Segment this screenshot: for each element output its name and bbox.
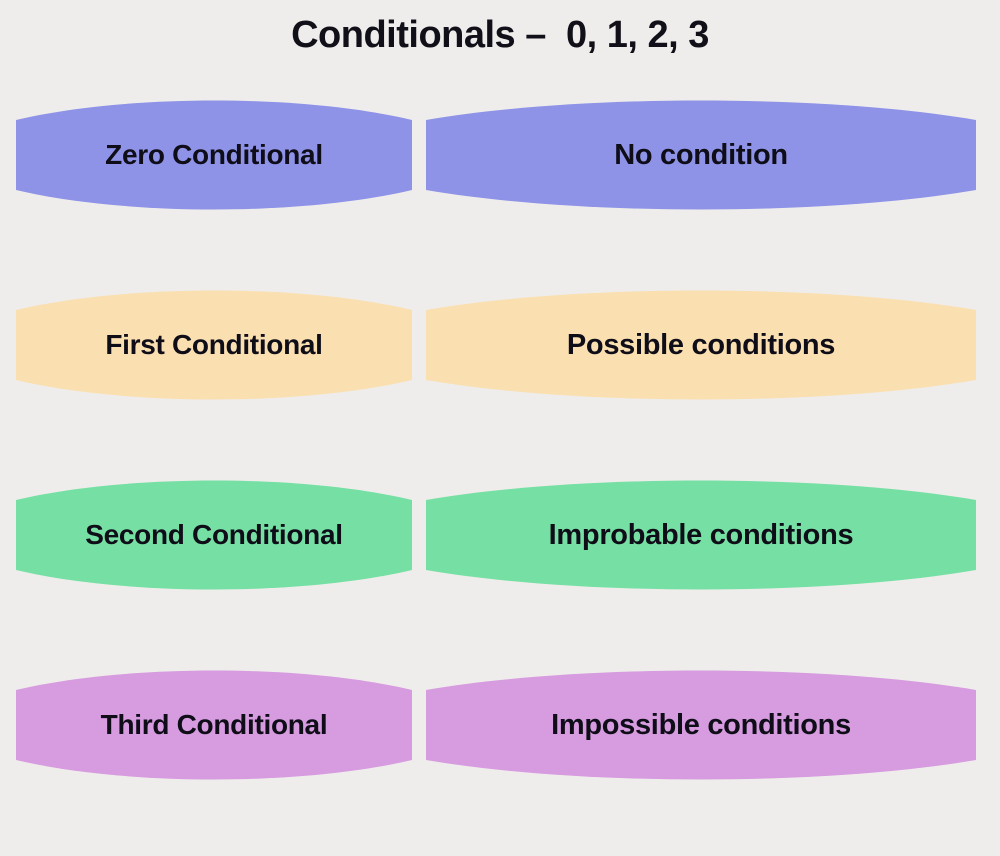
page-title: Conditionals – 0, 1, 2, 3 [0,14,1000,57]
table-row: Third Conditional Impossible conditions [0,666,1000,856]
table-row: First Conditional Possible conditions [0,286,1000,476]
conditional-type-label: Second Conditional [16,476,412,594]
conditional-meaning-label: Possible conditions [426,286,976,404]
conditional-type-cell[interactable]: Second Conditional [16,476,412,594]
conditional-type-cell[interactable]: Zero Conditional [16,96,412,214]
conditional-meaning-label: No condition [426,96,976,214]
conditional-meaning-cell[interactable]: Impossible conditions [426,666,976,784]
conditionals-diagram: Conditionals – 0, 1, 2, 3 Zero Condition… [0,0,1000,800]
conditional-meaning-cell[interactable]: No condition [426,96,976,214]
conditional-type-label: First Conditional [16,286,412,404]
table-row: Zero Conditional No condition [0,96,1000,286]
conditionals-rows: Zero Conditional No condition [0,96,1000,856]
conditional-meaning-cell[interactable]: Possible conditions [426,286,976,404]
conditional-type-label: Third Conditional [16,666,412,784]
conditional-type-label: Zero Conditional [16,96,412,214]
conditional-meaning-label: Impossible conditions [426,666,976,784]
conditional-meaning-cell[interactable]: Improbable conditions [426,476,976,594]
conditional-meaning-label: Improbable conditions [426,476,976,594]
table-row: Second Conditional Improbable conditions [0,476,1000,666]
conditional-type-cell[interactable]: First Conditional [16,286,412,404]
conditional-type-cell[interactable]: Third Conditional [16,666,412,784]
